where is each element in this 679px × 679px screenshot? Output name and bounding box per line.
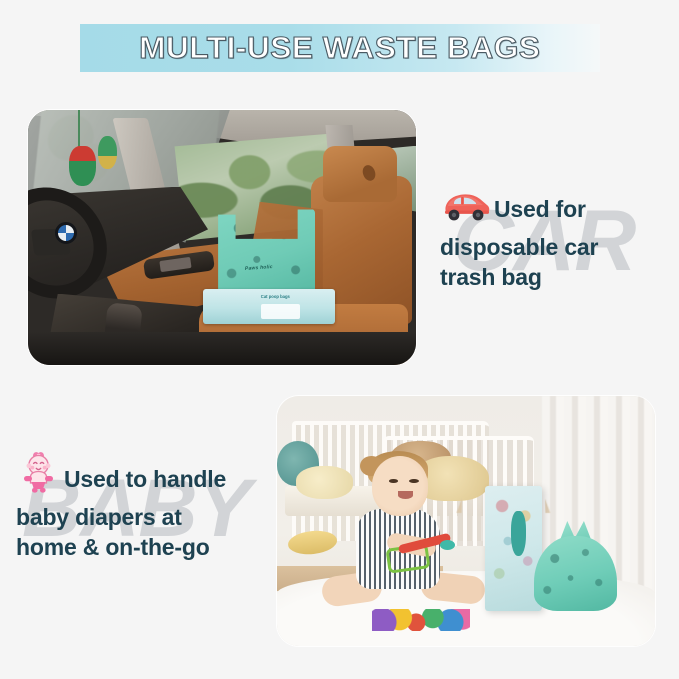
feature-car: Used for disposable car trash bag [440,190,675,293]
product-box-artwork [261,304,300,319]
feature-car-line-1: Used for [494,196,586,222]
car-scene: Paws holic Cat poop bags [28,110,416,365]
baby-toy-teal [440,540,455,550]
feature-baby: Used to handle baby diapers at home & on… [16,450,276,563]
baby-nursery-photo [277,396,655,646]
hanging-ornament [69,146,96,187]
baby-scene [277,396,655,646]
feature-baby-line-1: Used to handle [64,466,226,492]
hanging-ornament-string [78,110,80,151]
hanging-ornament-secondary [98,136,117,169]
baby-mouth [398,491,413,499]
product-box-graphic [511,511,526,556]
product-box-label: Cat poop bags [261,294,290,299]
title-banner: MULTI-USE WASTE BAGS [80,24,600,72]
feature-baby-text: Used to handle baby diapers at home & on… [16,450,276,563]
floor-toys [372,609,470,632]
baby-icon [16,450,62,502]
infographic-page: MULTI-USE WASTE BAGS [0,0,679,679]
baby-eye-left [389,479,399,483]
feature-baby-line-2: baby diapers at [16,504,182,530]
feature-car-line-3: trash bag [440,264,542,290]
feature-baby-line-3: home & on-the-go [16,534,210,560]
crib-pillow [296,466,353,499]
baby-eye-right [409,479,419,483]
page-title: MULTI-USE WASTE BAGS [139,30,540,66]
car-headrest [323,146,397,202]
car-interior-photo: Paws holic Cat poop bags [28,110,416,365]
baby-head [372,456,429,516]
car-floor [28,332,416,365]
car-icon [440,190,492,232]
feature-car-text: Used for disposable car trash bag [440,190,675,293]
feature-car-line-2: disposable car [440,234,598,260]
